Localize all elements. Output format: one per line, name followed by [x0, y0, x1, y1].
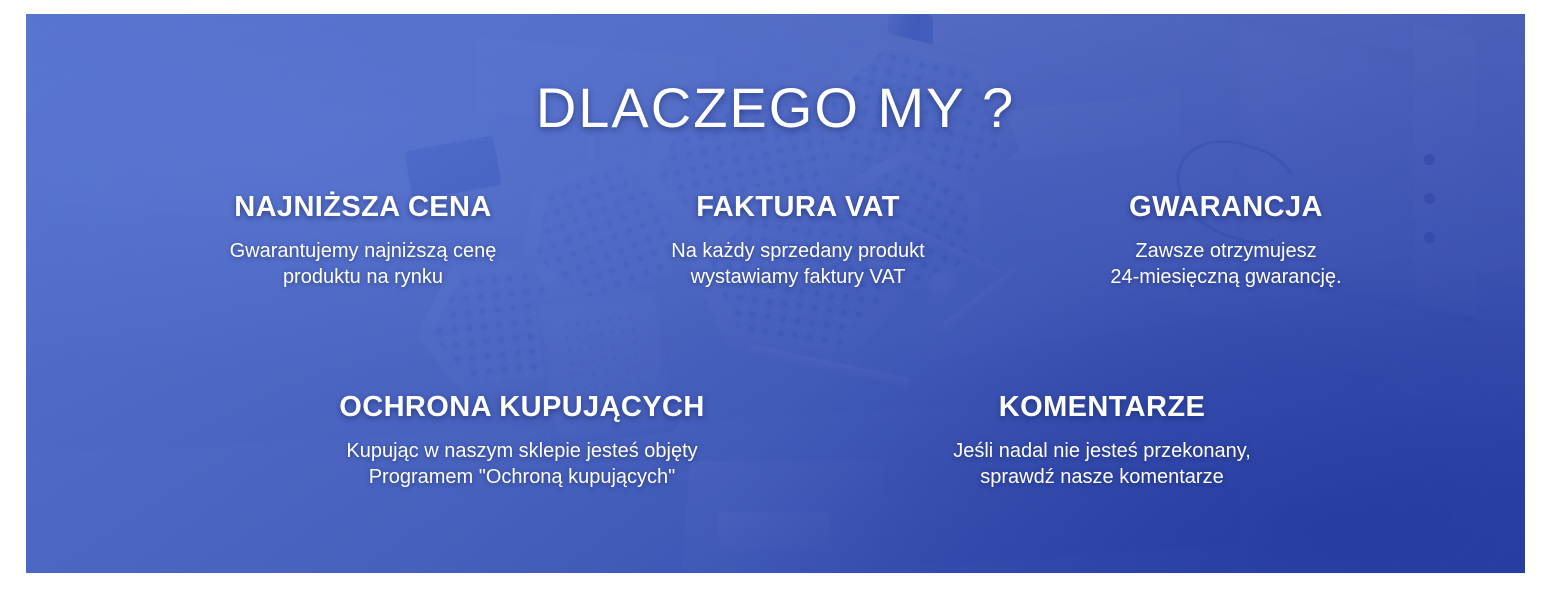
- feature-komentarze: KOMENTARZE Jeśli nadal nie jesteś przeko…: [876, 392, 1328, 491]
- feature-heading: GWARANCJA: [1026, 192, 1426, 222]
- feature-body: Na każdy sprzedany produkt wystawiamy fa…: [598, 239, 998, 290]
- feature-heading: NAJNIŻSZA CENA: [163, 192, 563, 222]
- feature-faktura-vat: FAKTURA VAT Na każdy sprzedany produkt w…: [598, 192, 998, 291]
- banner-content: DLACZEGO MY ? NAJNIŻSZA CENA Gwarantujem…: [26, 14, 1525, 573]
- feature-body: Kupując w naszym sklepie jesteś objęty P…: [296, 439, 748, 490]
- feature-body: Gwarantujemy najniższą cenę produktu na …: [163, 239, 563, 290]
- feature-body: Zawsze otrzymujesz 24-miesięczną gwaranc…: [1026, 239, 1426, 290]
- feature-gwarancja: GWARANCJA Zawsze otrzymujesz 24-miesięcz…: [1026, 192, 1426, 291]
- banner-title: DLACZEGO MY ?: [26, 80, 1525, 136]
- feature-ochrona-kupujacych: OCHRONA KUPUJĄCYCH Kupując w naszym skle…: [296, 392, 748, 491]
- feature-heading: OCHRONA KUPUJĄCYCH: [296, 392, 748, 422]
- feature-heading: KOMENTARZE: [876, 392, 1328, 422]
- feature-body: Jeśli nadal nie jesteś przekonany, spraw…: [876, 439, 1328, 490]
- feature-heading: FAKTURA VAT: [598, 192, 998, 222]
- why-us-banner: DLACZEGO MY ? NAJNIŻSZA CENA Gwarantujem…: [26, 14, 1525, 573]
- feature-najnizsza-cena: NAJNIŻSZA CENA Gwarantujemy najniższą ce…: [163, 192, 563, 291]
